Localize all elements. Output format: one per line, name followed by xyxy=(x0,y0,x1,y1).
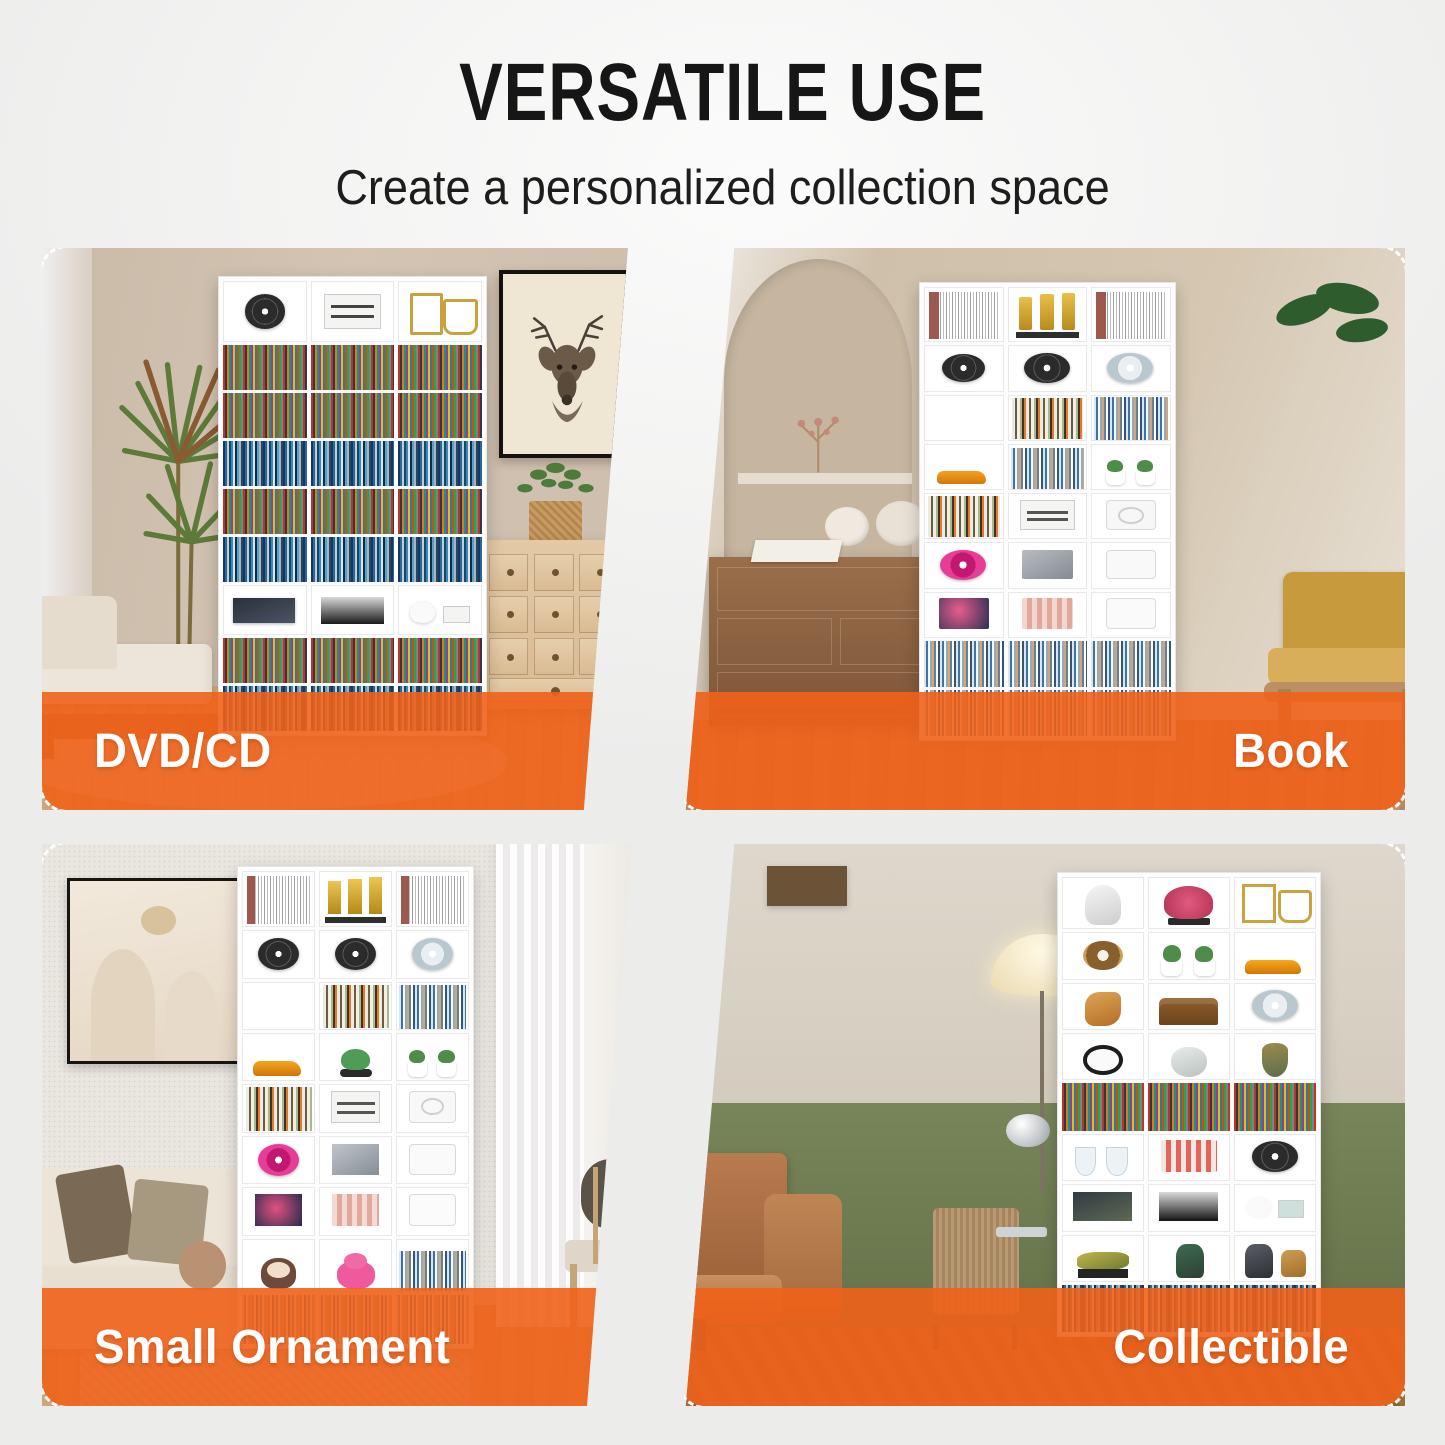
shelf-row-media xyxy=(223,537,481,582)
shelf-cell xyxy=(924,345,1004,391)
shelf-cell xyxy=(1062,1134,1144,1181)
shelf-cell xyxy=(396,871,469,927)
shelf-cell xyxy=(396,1084,469,1132)
apothecary-dresser xyxy=(483,540,625,709)
shelf-row xyxy=(242,1136,469,1184)
shelf-cell xyxy=(1148,1134,1230,1181)
shelf-row xyxy=(242,930,469,978)
shelf-cell xyxy=(242,1187,315,1235)
shelf-cell xyxy=(242,1033,315,1081)
ivy-leaves xyxy=(495,456,616,515)
shelf-row xyxy=(1062,1083,1316,1130)
shelf-cell xyxy=(1062,1184,1144,1231)
shelf-cell xyxy=(396,1136,469,1184)
shelf-row xyxy=(242,1187,469,1235)
shelf-cell xyxy=(1148,1184,1230,1231)
samurai-figure xyxy=(1176,1244,1204,1278)
media-shelf-dvd-cd xyxy=(218,276,486,736)
dresser-drawer xyxy=(534,554,574,591)
panel-photo-collectible: Collectible xyxy=(680,844,1405,1406)
shelf-cell xyxy=(396,1239,469,1292)
media-shelf-collectible xyxy=(1057,872,1321,1337)
shelf-row xyxy=(242,1239,469,1292)
shelf-cell xyxy=(319,982,392,1030)
shelf-cell xyxy=(242,1084,315,1132)
shelf-cell xyxy=(242,1136,315,1184)
shelf-cell xyxy=(396,1187,469,1235)
shelf-cell xyxy=(1234,983,1316,1030)
panel-label-small-ornament: Small Ornament xyxy=(42,1288,672,1406)
media-shelf-small-ornament xyxy=(237,866,474,1348)
shelf-row xyxy=(1062,1134,1316,1181)
dresser-drawer xyxy=(534,596,574,633)
shelf-row-display xyxy=(223,281,481,342)
dried-branch xyxy=(782,405,855,472)
page-subtitle: Create a personalized collection space xyxy=(58,134,1387,216)
shelf-row xyxy=(924,395,1171,441)
panel-label-collectible: Collectible xyxy=(680,1288,1405,1406)
shelf-row xyxy=(242,982,469,1030)
panel-label-book: Book xyxy=(680,692,1405,810)
shelf-cell xyxy=(1062,983,1144,1030)
deer-figurine xyxy=(1281,1250,1306,1277)
panel-label-text: Book xyxy=(1233,724,1349,779)
shelf-cell xyxy=(1148,932,1230,979)
shelf-row xyxy=(1062,1033,1316,1080)
shelf-row xyxy=(1062,877,1316,929)
shelf-cell xyxy=(1062,932,1144,979)
alcove-shelf xyxy=(738,473,912,484)
shelf-cell xyxy=(398,281,481,342)
shelf-row xyxy=(924,493,1171,539)
shelf-cell xyxy=(242,1239,315,1292)
shelf-cell xyxy=(1148,983,1230,1030)
panel-small-ornament[interactable]: Small Ornament xyxy=(42,844,672,1406)
jade-ornament xyxy=(1077,1252,1129,1270)
shelf-cell xyxy=(1091,493,1171,539)
shelf-cell xyxy=(1008,444,1088,490)
shelf-cell xyxy=(319,1136,392,1184)
shelf-cell xyxy=(398,585,481,635)
shelf-cell xyxy=(1234,1184,1316,1231)
shelf-row xyxy=(924,287,1171,343)
shelf-cell xyxy=(311,281,394,342)
dresser-drawer xyxy=(489,638,529,675)
dresser-drawer xyxy=(534,638,574,675)
leafy-plant xyxy=(1275,265,1391,355)
shelf-row xyxy=(1062,932,1316,979)
panel-book[interactable]: Book xyxy=(680,248,1405,810)
driftwood-sculpture xyxy=(1085,992,1121,1026)
shelf-cell xyxy=(924,493,1004,539)
shelf-cell xyxy=(1234,1235,1316,1282)
bottle-vase xyxy=(1262,1043,1288,1076)
branch-svg xyxy=(782,405,855,472)
crystal-glass xyxy=(1075,1147,1096,1176)
shelf-cell xyxy=(319,1187,392,1235)
panel-photo-small-ornament: Small Ornament xyxy=(42,844,672,1406)
shelf-cell xyxy=(1148,1033,1230,1080)
orange-toy-car xyxy=(1245,960,1301,974)
shelf-cell xyxy=(924,444,1004,490)
geode-slice xyxy=(1083,941,1122,970)
shelf-cell xyxy=(1008,493,1088,539)
deer-artwork-frame xyxy=(499,270,633,458)
shelf-cell xyxy=(1148,877,1230,929)
header: VERSATILE USE Create a personalized coll… xyxy=(0,0,1445,216)
shelf-row xyxy=(1062,1235,1316,1282)
shelf-cell xyxy=(319,1084,392,1132)
marble-bust xyxy=(1085,885,1121,925)
shelf-cell xyxy=(924,395,1004,441)
panel-label-dvd-cd: DVD/CD xyxy=(42,692,672,810)
shelf-cell xyxy=(1148,1235,1230,1282)
shelf-cell xyxy=(1091,592,1171,638)
shelf-cell xyxy=(319,871,392,927)
shelf-cell xyxy=(1091,287,1171,343)
dresser-drawer xyxy=(579,554,619,591)
panel-label-text: Collectible xyxy=(1113,1320,1349,1375)
panel-label-text: DVD/CD xyxy=(94,724,272,779)
shelf-row xyxy=(924,444,1171,490)
shelf-cell xyxy=(1091,444,1171,490)
panel-dvd-cd[interactable]: DVD/CD xyxy=(42,248,672,810)
shelf-row xyxy=(924,345,1171,391)
shelf-cell xyxy=(1008,395,1088,441)
shelf-cell xyxy=(311,585,394,635)
arch-artwork-frame xyxy=(67,878,249,1064)
silver-kettle xyxy=(1006,1114,1050,1148)
dresser-drawer xyxy=(489,596,529,633)
panel-grid: DVD/CD xyxy=(0,240,1445,1445)
shelf-row-media xyxy=(223,393,481,438)
shelf-cell xyxy=(924,287,1004,343)
shelf-cell xyxy=(1091,542,1171,588)
shelf-cell xyxy=(242,871,315,927)
alarm-clock xyxy=(1083,1045,1122,1074)
shelf-cell xyxy=(396,1033,469,1081)
shelf-cell xyxy=(1008,592,1088,638)
media-shelf-book xyxy=(919,282,1176,742)
dresser-drawer xyxy=(579,596,619,633)
page-title: VERSATILE USE xyxy=(145,0,1301,134)
shelf-row xyxy=(1062,983,1316,1030)
shelf-row xyxy=(924,592,1171,638)
dresser-drawer xyxy=(579,638,619,675)
shelf-row-media xyxy=(223,441,481,486)
panel-collectible[interactable]: Collectible xyxy=(680,844,1405,1406)
shelf-cell xyxy=(1234,932,1316,979)
leaf-svg xyxy=(1275,265,1391,355)
open-book xyxy=(750,540,842,562)
shelf-cell xyxy=(924,592,1004,638)
shelf-cell xyxy=(924,542,1004,588)
wooden-chest xyxy=(1159,998,1218,1025)
shelf-cell xyxy=(1234,1033,1316,1080)
shelf-cell xyxy=(1008,287,1088,343)
shelf-cell xyxy=(1234,1134,1316,1181)
shelf-row xyxy=(242,1084,469,1132)
shelf-cell xyxy=(223,281,306,342)
shelf-cell xyxy=(1062,1235,1144,1282)
shelf-cell xyxy=(1062,877,1144,929)
shelf-cell xyxy=(396,982,469,1030)
shelf-cell xyxy=(1091,345,1171,391)
shelf-cell xyxy=(1234,877,1316,929)
shelf-row xyxy=(242,1033,469,1081)
shelf-cell xyxy=(319,1239,392,1292)
framed-print xyxy=(767,866,847,905)
shelf-cell xyxy=(1008,542,1088,588)
shelf-cell xyxy=(223,585,306,635)
panel-photo-book: Book xyxy=(680,248,1405,810)
shelf-cell xyxy=(242,982,315,1030)
shelf-row xyxy=(924,641,1171,687)
shelf-cell xyxy=(242,930,315,978)
shelf-row-media xyxy=(223,345,481,390)
panel-label-text: Small Ornament xyxy=(94,1320,450,1375)
shelf-row-display xyxy=(223,585,481,635)
shelf-cell xyxy=(319,930,392,978)
dresser-drawer xyxy=(489,554,529,591)
shelf-row-media xyxy=(223,489,481,534)
panel-photo-dvd-cd: DVD/CD xyxy=(42,248,672,810)
shelf-cell xyxy=(1008,345,1088,391)
shelf-row xyxy=(1062,1184,1316,1231)
shelf-cell xyxy=(1091,395,1171,441)
shelf-cell xyxy=(396,930,469,978)
shelf-row xyxy=(924,542,1171,588)
deer-illustration xyxy=(513,283,619,445)
shelf-row-media xyxy=(223,638,481,683)
round-vase xyxy=(1171,1047,1207,1076)
versatile-use-infographic: VERSATILE USE Create a personalized coll… xyxy=(0,0,1445,1445)
shelf-cell xyxy=(1062,1033,1144,1080)
shelf-row xyxy=(242,871,469,927)
ivy-basket-plant xyxy=(508,462,603,552)
knight-figure xyxy=(1245,1244,1273,1278)
shelf-cell xyxy=(319,1033,392,1081)
